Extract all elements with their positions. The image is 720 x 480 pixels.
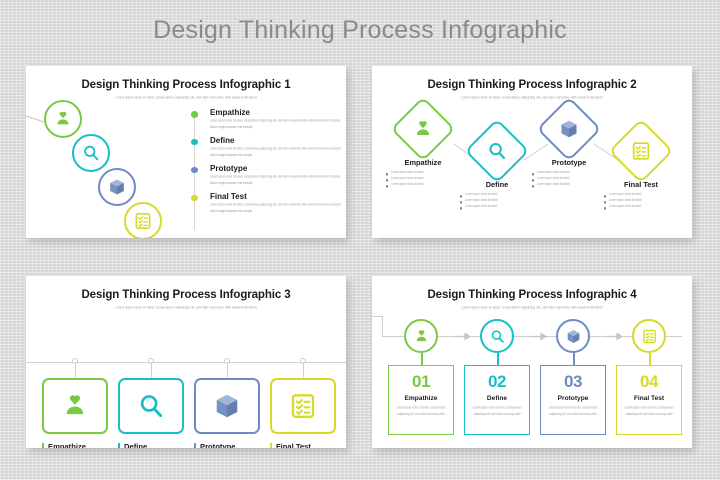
connector-stem (151, 362, 152, 378)
card-2-node-finaltest[interactable]: Final Test Lorem ipsum dolor sit amet. L… (602, 128, 680, 210)
card-1-list-item-prototype[interactable]: Prototype Lorem ipsum dolor sit amet, co… (194, 164, 334, 184)
card-2-diamond-finaltest[interactable] (608, 118, 673, 183)
infographic-card-3[interactable]: Design Thinking Process Infographic 3 Lo… (26, 276, 346, 448)
magnifier-icon (81, 143, 101, 163)
card-1-circle-chain (26, 92, 176, 238)
card-4-icon-circle-define[interactable] (480, 319, 514, 353)
person-heart-icon (412, 118, 434, 140)
card-3-foot-define: Define Lorem ipsum dolor sit amet. Lorem… (118, 442, 184, 448)
bullet-dot-icon (191, 167, 198, 174)
connector-stem (421, 353, 423, 365)
card-1-step-circle-define[interactable] (72, 134, 110, 172)
checklist-icon (133, 211, 153, 231)
card-3-label-define: Define (124, 442, 184, 448)
connector-stem (573, 353, 575, 365)
card-1-label-empathize: Empathize (210, 108, 334, 117)
card-2-node-define[interactable]: Define Lorem ipsum dolor sit amet. Lorem… (458, 128, 536, 210)
card-2-node-empathize[interactable]: Empathize Lorem ipsum dolor sit amet. Lo… (384, 106, 462, 188)
card-4-box-define[interactable]: 02 Define Lorem ipsum dolor sit amet, co… (464, 365, 530, 435)
card-3-label-finaltest: Final Test (276, 442, 336, 448)
connector-stem (303, 362, 304, 378)
accent-bar (270, 443, 272, 448)
card-4-number-02: 02 (465, 373, 529, 390)
card-2-label-finaltest: Final Test (602, 180, 680, 189)
card-4-flow: 01 Empathize Lorem ipsum dolor sit amet,… (372, 308, 692, 448)
card-3-icon-box-empathize[interactable] (42, 378, 108, 434)
infographic-card-2[interactable]: Design Thinking Process Infographic 2 Lo… (372, 66, 692, 238)
card-1-text-finaltest: Lorem ipsum dolor sit amet, consectetuer… (210, 203, 342, 215)
person-heart-icon (53, 109, 73, 129)
card-4-text-finaltest: Lorem ipsum dolor sit amet, consectetuer… (617, 406, 681, 418)
card-1-list-item-empathize[interactable]: Empathize Lorem ipsum dolor sit amet, co… (194, 108, 334, 128)
checklist-icon (630, 140, 652, 162)
card-3-foot-prototype: Prototype Lorem ipsum dolor sit amet. Lo… (194, 442, 260, 448)
card-2-diamond-prototype[interactable] (536, 96, 601, 161)
card-1-label-define: Define (210, 136, 334, 145)
card-2-title: Design Thinking Process Infographic 2 (372, 79, 692, 91)
card-3-foot-finaltest: Final Test Lorem ipsum dolor sit amet. L… (270, 442, 336, 448)
card-1-step-circle-empathize[interactable] (44, 100, 82, 138)
card-3-icon-box-prototype[interactable] (194, 378, 260, 434)
card-3-foot-empathize: Empathize Lorem ipsum dolor sit amet. Lo… (42, 442, 108, 448)
card-2-bullets-empathize: Lorem ipsum dolor sit amet. Lorem ipsum … (384, 170, 462, 188)
card-4-title: Design Thinking Process Infographic 4 (372, 289, 692, 301)
card-3-icon-box-define[interactable] (118, 378, 184, 434)
connector-stem (75, 362, 76, 378)
card-2-bullets-define: Lorem ipsum dolor sit amet. Lorem ipsum … (458, 192, 536, 210)
card-1-label-finaltest: Final Test (210, 192, 334, 201)
cube-icon (565, 328, 582, 345)
card-3-subtitle: Lorem ipsum dolor sit amet, consectetuer… (26, 305, 346, 310)
bullet-line: Lorem ipsum dolor sit amet. (458, 203, 536, 211)
connector-stem (497, 353, 499, 365)
card-1-text-empathize: Lorem ipsum dolor sit amet, consectetuer… (210, 119, 342, 131)
card-4-box-empathize[interactable]: 01 Empathize Lorem ipsum dolor sit amet,… (388, 365, 454, 435)
card-1-label-prototype: Prototype (210, 164, 334, 173)
card-2-node-prototype[interactable]: Prototype Lorem ipsum dolor sit amet. Lo… (530, 106, 608, 188)
card-4-number-03: 03 (541, 373, 605, 390)
flow-elbow-vertical (382, 316, 383, 336)
card-4-icon-circle-prototype[interactable] (556, 319, 590, 353)
accent-bar (194, 443, 196, 448)
card-4-label-define: Define (465, 395, 529, 402)
bullet-dot-icon (191, 195, 198, 202)
card-4-text-prototype: Lorem ipsum dolor sit amet, consectetuer… (541, 406, 605, 418)
bullet-line: Lorem ipsum dolor sit amet. (384, 181, 462, 189)
card-3-icon-box-finaltest[interactable] (270, 378, 336, 434)
checklist-icon (641, 328, 658, 345)
card-1-step-circle-finaltest[interactable] (124, 202, 162, 238)
cube-icon (558, 118, 580, 140)
accent-bar (118, 443, 120, 448)
card-1-step-list: Empathize Lorem ipsum dolor sit amet, co… (194, 108, 334, 220)
card-2-bullets-finaltest: Lorem ipsum dolor sit amet. Lorem ipsum … (602, 192, 680, 210)
infographic-card-4[interactable]: Design Thinking Process Infographic 4 Lo… (372, 276, 692, 448)
card-1-step-circle-prototype[interactable] (98, 168, 136, 206)
card-4-number-01: 01 (389, 373, 453, 390)
card-2-label-empathize: Empathize (384, 158, 462, 167)
card-4-icon-circle-empathize[interactable] (404, 319, 438, 353)
connector-stem (227, 362, 228, 378)
card-4-label-finaltest: Final Test (617, 395, 681, 402)
card-4-label-empathize: Empathize (389, 395, 453, 402)
card-2-bullets-prototype: Lorem ipsum dolor sit amet. Lorem ipsum … (530, 170, 608, 188)
card-4-label-prototype: Prototype (541, 395, 605, 402)
card-4-box-finaltest[interactable]: 04 Final Test Lorem ipsum dolor sit amet… (616, 365, 682, 435)
card-4-icon-circle-finaltest[interactable] (632, 319, 666, 353)
card-4-text-define: Lorem ipsum dolor sit amet, consectetuer… (465, 406, 529, 418)
magnifier-icon (489, 328, 506, 345)
accent-bar (42, 443, 44, 448)
magnifier-icon (136, 391, 166, 421)
flow-arrow-icon (530, 332, 550, 341)
card-2-label-prototype: Prototype (530, 158, 608, 167)
card-2-diamond-empathize[interactable] (390, 96, 455, 161)
card-2-diamond-flow: Empathize Lorem ipsum dolor sit amet. Lo… (372, 102, 692, 238)
card-4-number-04: 04 (617, 373, 681, 390)
cube-icon (212, 391, 242, 421)
flow-arrow-icon (606, 332, 626, 341)
card-1-text-prototype: Lorem ipsum dolor sit amet, consectetuer… (210, 175, 342, 187)
card-2-label-define: Define (458, 180, 536, 189)
page-title: Design Thinking Process Infographic (0, 16, 720, 45)
card-1-text-define: Lorem ipsum dolor sit amet, consectetuer… (210, 147, 342, 159)
bullet-line: Lorem ipsum dolor sit amet. (530, 181, 608, 189)
bullet-line: Lorem ipsum dolor sit amet. (602, 203, 680, 211)
infographic-card-1[interactable]: Design Thinking Process Infographic 1 Lo… (26, 66, 346, 238)
bullet-dot-icon (191, 139, 198, 146)
card-4-text-empathize: Lorem ipsum dolor sit amet, consectetuer… (389, 406, 453, 418)
card-2-diamond-define[interactable] (464, 118, 529, 183)
person-heart-icon (413, 328, 430, 345)
card-3-label-prototype: Prototype (200, 442, 260, 448)
cube-icon (107, 177, 127, 197)
connector-stem (649, 353, 651, 365)
card-1-list-item-define[interactable]: Define Lorem ipsum dolor sit amet, conse… (194, 136, 334, 156)
magnifier-icon (486, 140, 508, 162)
bullet-dot-icon (191, 111, 198, 118)
card-3-label-empathize: Empathize (48, 442, 108, 448)
card-4-box-prototype[interactable]: 03 Prototype Lorem ipsum dolor sit amet,… (540, 365, 606, 435)
card-1-list-item-finaltest[interactable]: Final Test Lorem ipsum dolor sit amet, c… (194, 192, 334, 212)
checklist-icon (288, 391, 318, 421)
flow-arrow-icon (454, 332, 474, 341)
person-heart-icon (60, 391, 90, 421)
card-3-title: Design Thinking Process Infographic 3 (26, 289, 346, 301)
card-1-title: Design Thinking Process Infographic 1 (26, 79, 346, 91)
